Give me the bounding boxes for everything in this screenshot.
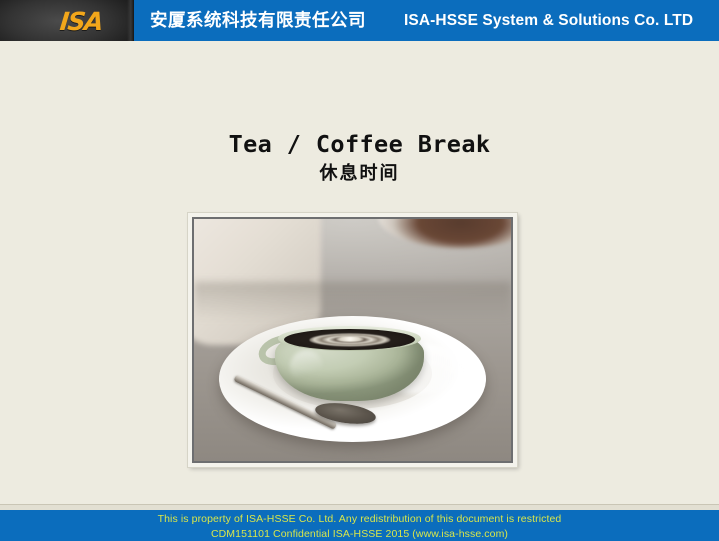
cup-highlight	[290, 350, 323, 383]
footer-document-line: CDM151101 Confidential ISA-HSSE 2015 (ww…	[0, 526, 719, 541]
footer-copyright-line: This is property of ISA-HSSE Co. Ltd. An…	[0, 510, 719, 526]
page-subtitle-chinese: 休息时间	[0, 162, 719, 186]
page-title: Tea / Coffee Break	[0, 129, 719, 159]
saucer	[219, 316, 485, 442]
cream-swirl-center	[335, 337, 364, 342]
slide-canvas: ISA 安厦系统科技有限责任公司 ISA-HSSE System & Solut…	[0, 0, 719, 541]
slide-title-block: Tea / Coffee Break 休息时间	[0, 129, 719, 186]
footer-bar: This is property of ISA-HSSE Co. Ltd. An…	[0, 510, 719, 541]
header-title-english: ISA-HSSE System & Solutions Co. LTD	[404, 11, 693, 31]
header-bar: ISA 安厦系统科技有限责任公司 ISA-HSSE System & Solut…	[0, 0, 719, 41]
coffee-photo-frame	[188, 213, 517, 467]
coffee-photo-border	[192, 217, 513, 463]
table-shadow	[194, 282, 511, 321]
isa-logo-icon: ISA	[59, 9, 104, 34]
background-plate	[378, 219, 511, 248]
coffee-cup-photo	[194, 219, 511, 461]
logo-panel: ISA	[0, 0, 134, 41]
header-title-chinese: 安厦系统科技有限责任公司	[150, 9, 366, 31]
